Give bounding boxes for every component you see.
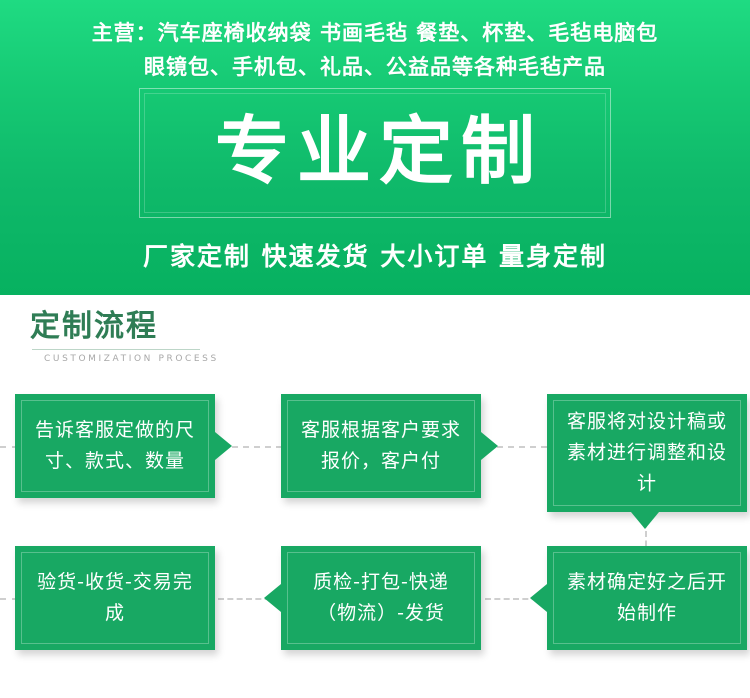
flow-step-5-arrow-icon	[264, 584, 281, 612]
flow-step-1-label: 告诉客服定做的尺寸、款式、数量	[31, 415, 199, 477]
flow-step-4-label: 素材确定好之后开始制作	[563, 567, 731, 629]
process-flowchart: 告诉客服定做的尺寸、款式、数量 客服根据客户要求报价，客户付 客服将对设计稿或素…	[0, 0, 750, 698]
connector-step1-step2	[232, 446, 282, 448]
flow-step-6-label: 验货-收货-交易完成	[31, 567, 199, 629]
flow-step-4-arrow-icon	[530, 584, 547, 612]
flow-step-1[interactable]: 告诉客服定做的尺寸、款式、数量	[15, 394, 215, 498]
flow-step-3-label: 客服将对设计稿或素材进行调整和设计	[563, 407, 731, 500]
flow-step-3-arrow-icon	[631, 512, 659, 529]
flow-step-2-label: 客服根据客户要求报价，客户付	[297, 415, 465, 477]
flow-step-5-label: 质检-打包-快递（物流）-发货	[297, 567, 465, 629]
flow-step-2-arrow-icon	[481, 432, 498, 460]
flow-step-3[interactable]: 客服将对设计稿或素材进行调整和设计	[547, 394, 747, 512]
flow-step-4[interactable]: 素材确定好之后开始制作	[547, 546, 747, 650]
flow-step-2[interactable]: 客服根据客户要求报价，客户付	[281, 394, 481, 498]
flow-step-1-arrow-icon	[215, 432, 232, 460]
flow-step-6[interactable]: 验货-收货-交易完成	[15, 546, 215, 650]
connector-step2-step3	[497, 446, 547, 448]
flow-step-5[interactable]: 质检-打包-快递（物流）-发货	[281, 546, 481, 650]
